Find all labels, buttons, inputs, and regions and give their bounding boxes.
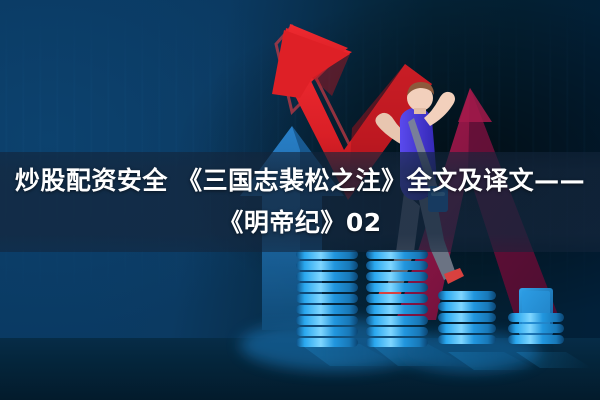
title-line-1: 炒股配资安全 《三国志裴松之注》全文及译文——: [15, 161, 585, 201]
coin-stack-short: [508, 313, 564, 344]
thumbnail-image: 炒股配资安全 《三国志裴松之注》全文及译文—— 《明帝纪》02: [0, 0, 600, 400]
coin-stack-tall-1: [296, 250, 358, 347]
coin-stack-medium: [438, 291, 496, 344]
title-line-2: 《明帝纪》02: [218, 203, 381, 243]
title-block: 炒股配资安全 《三国志裴松之注》全文及译文—— 《明帝纪》02: [0, 154, 600, 250]
coin-stack-tall-2: [366, 250, 428, 347]
